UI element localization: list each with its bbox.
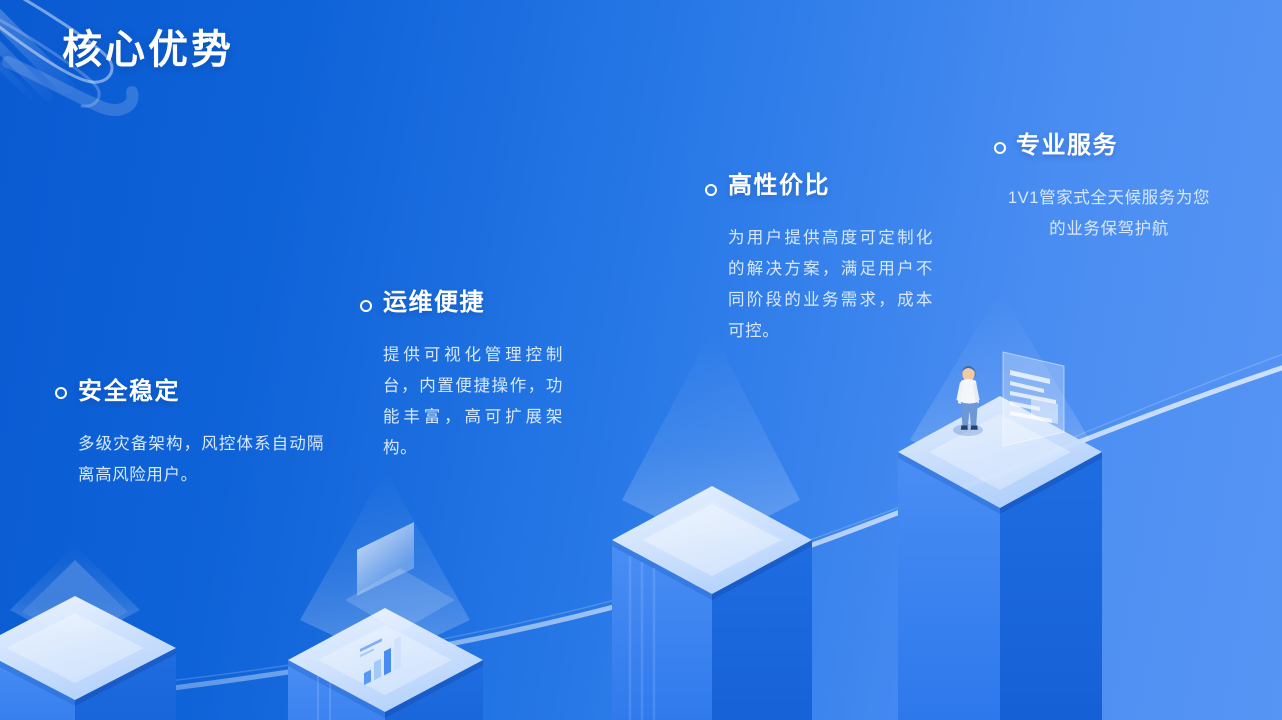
pillar-1: [0, 545, 176, 720]
feature-body: 多级灾备架构，风控体系自动隔离高风险用户。: [78, 429, 324, 491]
feature-body: 提供可视化管理控制台，内置便捷操作，功能丰富，高可扩展架构。: [383, 340, 563, 464]
feature-body: 1V1管家式全天候服务为您的业务保驾护航: [1002, 183, 1216, 245]
feature-block-2: 运维便捷 提供可视化管理控制台，内置便捷操作，功能丰富，高可扩展架构。: [383, 288, 563, 464]
page-title: 核心优势: [62, 26, 234, 74]
feature-block-3: 高性价比 为用户提供高度可定制化的解决方案，满足用户不同阶段的业务需求，成本可控…: [728, 171, 933, 347]
background-illustration: [0, 0, 1282, 720]
feature-block-4: 专业服务 1V1管家式全天候服务为您的业务保驾护航: [1016, 131, 1216, 245]
feature-title: 高性价比: [728, 171, 933, 201]
document-screen-panel-icon: [1003, 352, 1064, 446]
feature-title: 安全稳定: [78, 377, 324, 407]
pillar-2: [288, 470, 483, 720]
feature-title: 运维便捷: [383, 288, 563, 318]
feature-block-1: 安全稳定 多级灾备架构，风控体系自动隔离高风险用户。: [78, 377, 324, 491]
feature-title: 专业服务: [1016, 131, 1216, 161]
slide-canvas: 核心优势 安全稳定 多级灾备架构，风控体系自动隔离高风险用户。 运维便捷 提供可…: [0, 0, 1282, 720]
feature-body: 为用户提供高度可定制化的解决方案，满足用户不同阶段的业务需求，成本可控。: [728, 223, 933, 347]
